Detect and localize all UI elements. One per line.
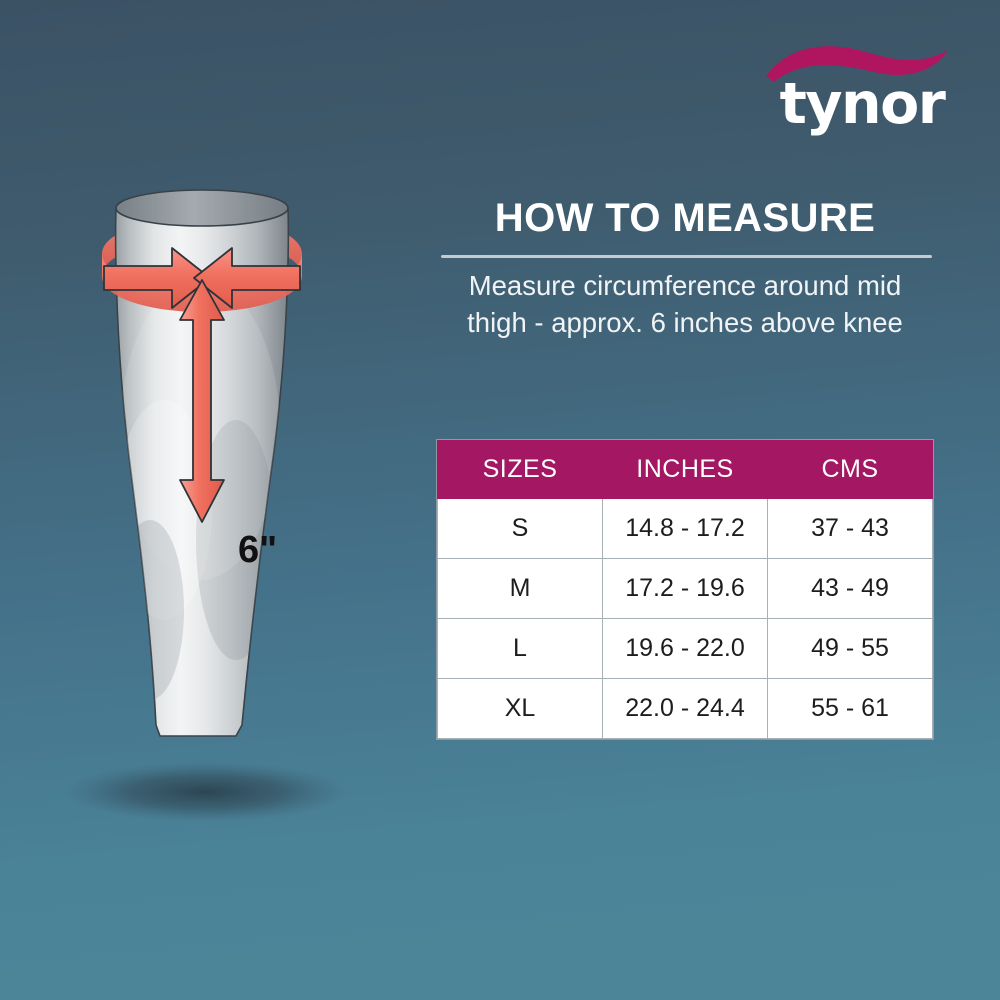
cell-cms: 49 - 55 [768, 619, 933, 679]
measure-label-6in: 6" [238, 529, 277, 572]
table-row: S 14.8 - 17.2 37 - 43 [438, 499, 933, 559]
cell-inches: 17.2 - 19.6 [603, 559, 768, 619]
size-chart-table: SIZES INCHES CMS S 14.8 - 17.2 37 - 43 M… [437, 440, 933, 739]
leg-measurement-illustration: 6" [60, 180, 400, 840]
leg-diagram-svg [60, 180, 400, 840]
cell-size: S [438, 499, 603, 559]
table-row: XL 22.0 - 24.4 55 - 61 [438, 679, 933, 739]
cell-cms: 55 - 61 [768, 679, 933, 739]
cell-size: XL [438, 679, 603, 739]
table-row: M 17.2 - 19.6 43 - 49 [438, 559, 933, 619]
cell-cms: 43 - 49 [768, 559, 933, 619]
cell-size: L [438, 619, 603, 679]
title-divider [441, 255, 932, 258]
tynor-logo: tynor [762, 38, 962, 138]
instruction-line-2: thigh - approx. 6 inches above knee [433, 305, 937, 342]
cell-inches: 19.6 - 22.0 [603, 619, 768, 679]
tynor-wordmark: tynor [762, 76, 962, 133]
instruction-text: Measure circumference around mid thigh -… [433, 268, 937, 341]
column-header-cms: CMS [768, 441, 933, 499]
column-header-sizes: SIZES [438, 441, 603, 499]
column-header-inches: INCHES [603, 441, 768, 499]
table-row: L 19.6 - 22.0 49 - 55 [438, 619, 933, 679]
cell-inches: 14.8 - 17.2 [603, 499, 768, 559]
cell-cms: 37 - 43 [768, 499, 933, 559]
table-header-row: SIZES INCHES CMS [438, 441, 933, 499]
size-chart-page: tynor HOW TO MEASURE Measure circumferen… [0, 0, 1000, 1000]
leg-shadow [64, 762, 348, 822]
instruction-line-1: Measure circumference around mid [433, 268, 937, 305]
cell-size: M [438, 559, 603, 619]
cell-inches: 22.0 - 24.4 [603, 679, 768, 739]
page-title: HOW TO MEASURE [437, 196, 933, 241]
